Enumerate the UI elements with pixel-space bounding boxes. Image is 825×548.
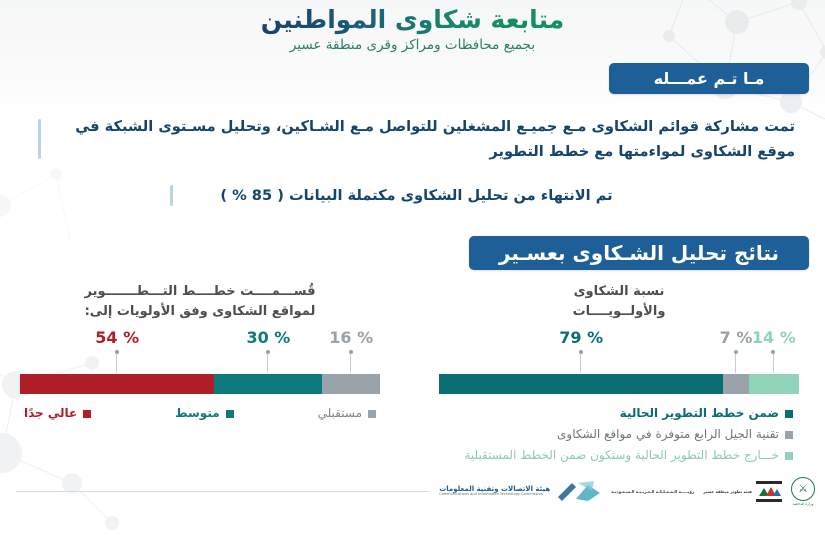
- logo-saudi-vision: رؤيـــــة الـمـمـلـكـة الـعـربـيـة الـسـ…: [611, 489, 694, 494]
- footer-logos: ⚔ وزارة الداخلية هيئة تطوير منطقة عسير ر…: [0, 472, 825, 510]
- value-label-7: % 7: [720, 328, 753, 347]
- legend-label-future: مستقبلي: [318, 403, 362, 424]
- moi-badge-icon: ⚔: [791, 477, 815, 501]
- chart-development-plans-title-line-1: قُســـمــــت خطــــط التـــطـــــــوير: [20, 282, 380, 302]
- legend-label-future-plans: خـــارج خطط التطوير الحالية وستكون ضمن ا…: [464, 445, 779, 466]
- stalk-54: [116, 352, 117, 373]
- citc-text: هيئة الاتصالات وتقنية المعلومات Communic…: [439, 486, 550, 496]
- legend-label-medium: متوسط: [175, 403, 220, 424]
- chart-development-plans-title: قُســـمــــت خطــــط التـــطـــــــوير ل…: [20, 282, 380, 322]
- value-label-30: % 30: [246, 328, 290, 347]
- section-banner-what-was-done: مـا تـم عمـــله: [609, 63, 809, 94]
- value-label-16: % 16: [329, 328, 373, 347]
- chart-priorities-title: نسبة الشكاوى والأولــويــــات: [439, 282, 799, 322]
- legend-label-4g-available: تقنية الجيل الرابع متوفرة في مواقع الشكا…: [557, 424, 779, 445]
- legend-label-current-plans: ضمن خطط التطوير الحالية: [620, 403, 779, 424]
- legend-swatch-future: [368, 410, 376, 418]
- logo-citc: هيئة الاتصالات وتقنية المعلومات Communic…: [439, 479, 602, 503]
- bullet-text-1: تمت مشاركة قوائم الشكاوى مـع جميـع المشغ…: [75, 118, 795, 160]
- section-banner-results: نتائج تحليل الشـكاوى بعسـير: [469, 236, 809, 270]
- stalk-14: [773, 352, 774, 373]
- chart-priorities-legend: ضمن خطط التطوير الحالية تقنية الجيل الرا…: [439, 403, 799, 466]
- asir-bar-bottom: [756, 499, 782, 502]
- bar-segment-30: [214, 374, 322, 394]
- stalk-30: [267, 352, 268, 373]
- legend-item: متوسط: [175, 403, 234, 424]
- page-header: متابعة شكاوى المواطنين بجميع محافظات ومر…: [0, 4, 825, 55]
- chart-priorities-stalks: [439, 352, 799, 374]
- logo-saudi-vision-label: رؤيـــــة الـمـمـلـكـة الـعـربـيـة الـسـ…: [611, 489, 694, 494]
- legend-item: ضمن خطط التطوير الحالية: [439, 403, 799, 424]
- chart-development-plans-legend: مستقبلي متوسط عالي جدًا: [20, 403, 380, 424]
- stalk-16: [350, 352, 351, 373]
- chart-development-plans-title-line-2: لمواقع الشكاوى وفق الأولويات إلى:: [20, 302, 380, 322]
- logo-asir-region-label: هيئة تطوير منطقة عسير: [703, 489, 752, 494]
- summary-bullets: تمت مشاركة قوائم الشكاوى مـع جميـع المشغ…: [38, 114, 795, 208]
- value-label-14: % 14: [752, 328, 796, 347]
- legend-swatch-4g-available: [785, 431, 793, 439]
- legend-swatch-future-plans: [785, 452, 793, 460]
- footer-divider-line: [16, 491, 430, 492]
- legend-item: عالي جدًا: [24, 403, 91, 424]
- bar-segment-16: [322, 374, 380, 394]
- chart-priorities-title-line-2: والأولــويــــات: [439, 302, 799, 322]
- page-title: متابعة شكاوى المواطنين: [261, 4, 565, 35]
- bar-segment-14: [749, 374, 799, 394]
- asir-emblem: [756, 481, 782, 502]
- bullet-text-2: تم الانتهاء من تحليل الشكاوى مكتملة البي…: [220, 187, 612, 204]
- bullet-rule: [38, 119, 41, 159]
- value-label-54: % 54: [95, 328, 139, 347]
- legend-label-very-high: عالي جدًا: [24, 403, 77, 424]
- moi-emblem: ⚔ وزارة الداخلية: [791, 477, 815, 506]
- bullet-item-1: تمت مشاركة قوائم الشكاوى مـع جميـع المشغ…: [38, 114, 795, 164]
- asir-bar-top: [756, 481, 782, 484]
- legend-swatch-current-plans: [785, 410, 793, 418]
- stalk-7: [735, 352, 736, 373]
- citc-emblem-icon: [554, 479, 602, 503]
- logo-ministry-of-interior: ⚔ وزارة الداخلية: [791, 477, 815, 506]
- bar-segment-54: [20, 374, 214, 394]
- legend-item: خـــارج خطط التطوير الحالية وستكون ضمن ا…: [439, 445, 799, 466]
- legend-swatch-medium: [226, 410, 234, 418]
- logo-asir-region: هيئة تطوير منطقة عسير: [703, 481, 782, 502]
- chart-development-plans-stalks: [20, 352, 380, 374]
- chart-priorities: نسبة الشكاوى والأولــويــــات % 79 % 7 %…: [439, 282, 799, 466]
- asir-mountains-icon: [756, 485, 782, 497]
- bullet-rule: [170, 185, 173, 206]
- chart-priorities-title-line-1: نسبة الشكاوى: [439, 282, 799, 302]
- chart-priorities-bar: [439, 374, 799, 394]
- chart-development-plans-bar: [20, 374, 380, 394]
- value-label-79: % 79: [559, 328, 603, 347]
- stalk-79: [580, 352, 581, 373]
- bar-segment-79: [439, 374, 723, 394]
- bullet-item-2: تم الانتهاء من تحليل الشكاوى مكتملة البي…: [38, 183, 795, 208]
- logo-ministry-of-interior-label: وزارة الداخلية: [793, 502, 814, 506]
- bar-segment-7: [723, 374, 748, 394]
- logo-citc-label-en: Communications and Information Technolog…: [439, 493, 543, 496]
- legend-swatch-very-high: [83, 410, 91, 418]
- chart-development-plans: قُســـمــــت خطــــط التـــطـــــــوير ل…: [20, 282, 380, 424]
- page-subtitle: بجميع محافظات ومراكز وقرى منطقة عسير: [0, 37, 825, 55]
- legend-item: مستقبلي: [318, 403, 376, 424]
- chart-development-plans-value-labels: % 54 % 30 % 16: [20, 328, 380, 352]
- chart-priorities-value-labels: % 79 % 7 % 14: [439, 328, 799, 352]
- legend-item: تقنية الجيل الرابع متوفرة في مواقع الشكا…: [439, 424, 799, 445]
